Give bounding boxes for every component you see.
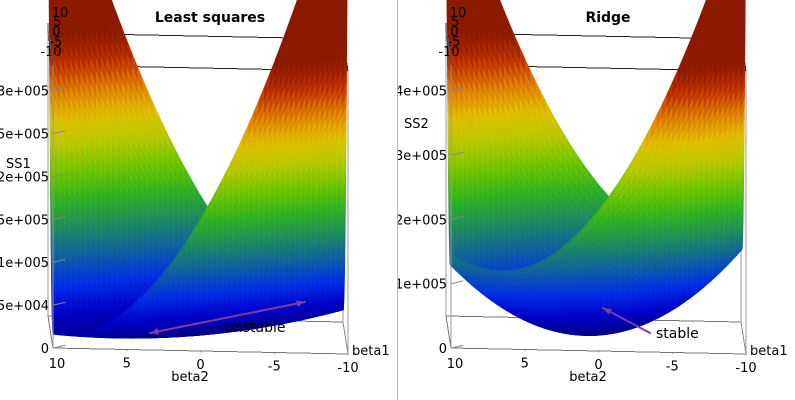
plot-panel-ridge: 01e+0052e+0053e+0054e+005SS21050-5-10bet…	[398, 0, 795, 400]
plot-title: Least squares	[155, 10, 265, 26]
surface-plot-ridge: 01e+0052e+0053e+0054e+005SS21050-5-10bet…	[398, 0, 795, 400]
x-tick-label: 10	[49, 357, 66, 372]
surface-plot-least-squares: 05e+0041e+0051.5e+0052e+0052.5e+0053e+00…	[0, 0, 398, 400]
z-tick-label: 1e+005	[0, 256, 49, 271]
z-tick-label: 3e+005	[0, 85, 49, 100]
z-tick	[53, 345, 65, 348]
z-tick-label: 2.5e+005	[0, 128, 49, 143]
x-axis-title: beta2	[171, 370, 209, 385]
plot-panel-least-squares: 05e+0041e+0051.5e+0052e+0052.5e+0053e+00…	[0, 0, 398, 400]
z-tick-label: 0	[41, 342, 49, 357]
y-axis-title: beta1	[352, 344, 390, 359]
surface-mesh	[48, 0, 348, 338]
z-tick-label: 1.5e+005	[0, 213, 49, 228]
x-tick-label: -5	[268, 360, 281, 375]
z-tick-label: 5e+004	[0, 299, 49, 314]
x-tick-label: -10	[337, 361, 358, 376]
x-tick-label: 5	[123, 357, 131, 372]
x-axis: 1050-5-10beta2	[49, 350, 359, 386]
annotation-label: unstable	[225, 320, 286, 336]
z-tick-label: 2e+005	[0, 170, 49, 185]
surface-mesh	[446, 0, 746, 336]
figure-root: 05e+0041e+0051.5e+0052e+0052.5e+0053e+00…	[0, 0, 795, 400]
z-axis-title: SS1	[6, 157, 31, 172]
surface-cell	[63, 335, 68, 336]
floor-edge-right-top	[343, 322, 348, 354]
y-tick-label: 10	[52, 6, 69, 21]
